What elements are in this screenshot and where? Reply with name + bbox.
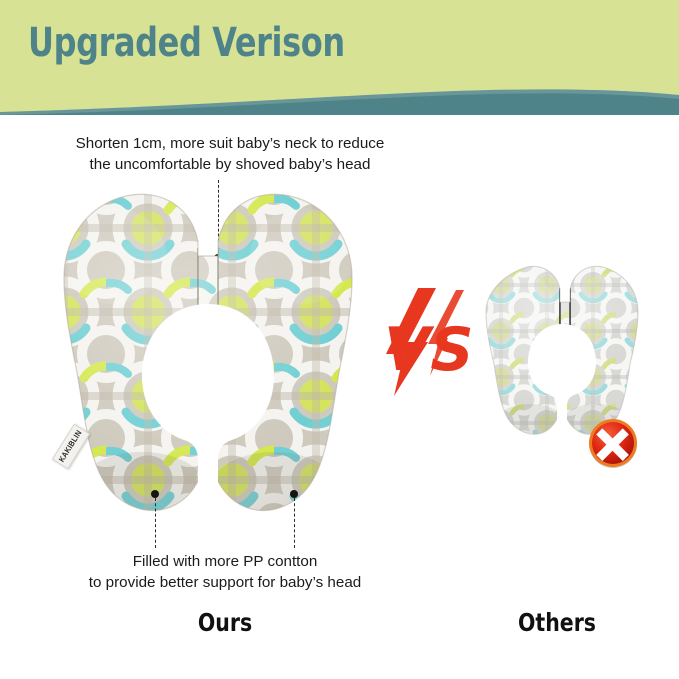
annotation-top: Shorten 1cm, more suit baby’s neck to re… <box>0 134 460 175</box>
header-banner: Upgraded Verison <box>0 0 679 115</box>
leader-dot-right-lobe <box>290 490 298 498</box>
versus-label: VS <box>384 315 474 385</box>
label-others: Others <box>475 608 639 637</box>
leader-line-right-lobe <box>294 498 295 548</box>
leader-dot-left-lobe <box>151 490 159 498</box>
annotation-bottom-line2: to provide better support for baby’s hea… <box>0 573 450 594</box>
versus-graphic: VS <box>378 288 484 396</box>
leader-line-left-lobe <box>155 498 156 548</box>
product-comparison-canvas: Upgraded Verison Shorten 1cm, more suit … <box>0 0 679 679</box>
annotation-top-line1: Shorten 1cm, more suit baby’s neck to re… <box>0 134 460 155</box>
ours-pillow-body <box>12 176 412 556</box>
annotation-bottom: Filled with more PP contton to provide b… <box>0 552 450 593</box>
annotation-top-line2: the uncomfortable by shoved baby’s head <box>0 155 460 176</box>
page-title: Upgraded Verison <box>28 20 345 66</box>
product-image-ours <box>22 186 390 538</box>
label-ours: Ours <box>143 608 307 637</box>
reject-badge <box>586 416 640 470</box>
annotation-bottom-line1: Filled with more PP contton <box>0 552 450 573</box>
